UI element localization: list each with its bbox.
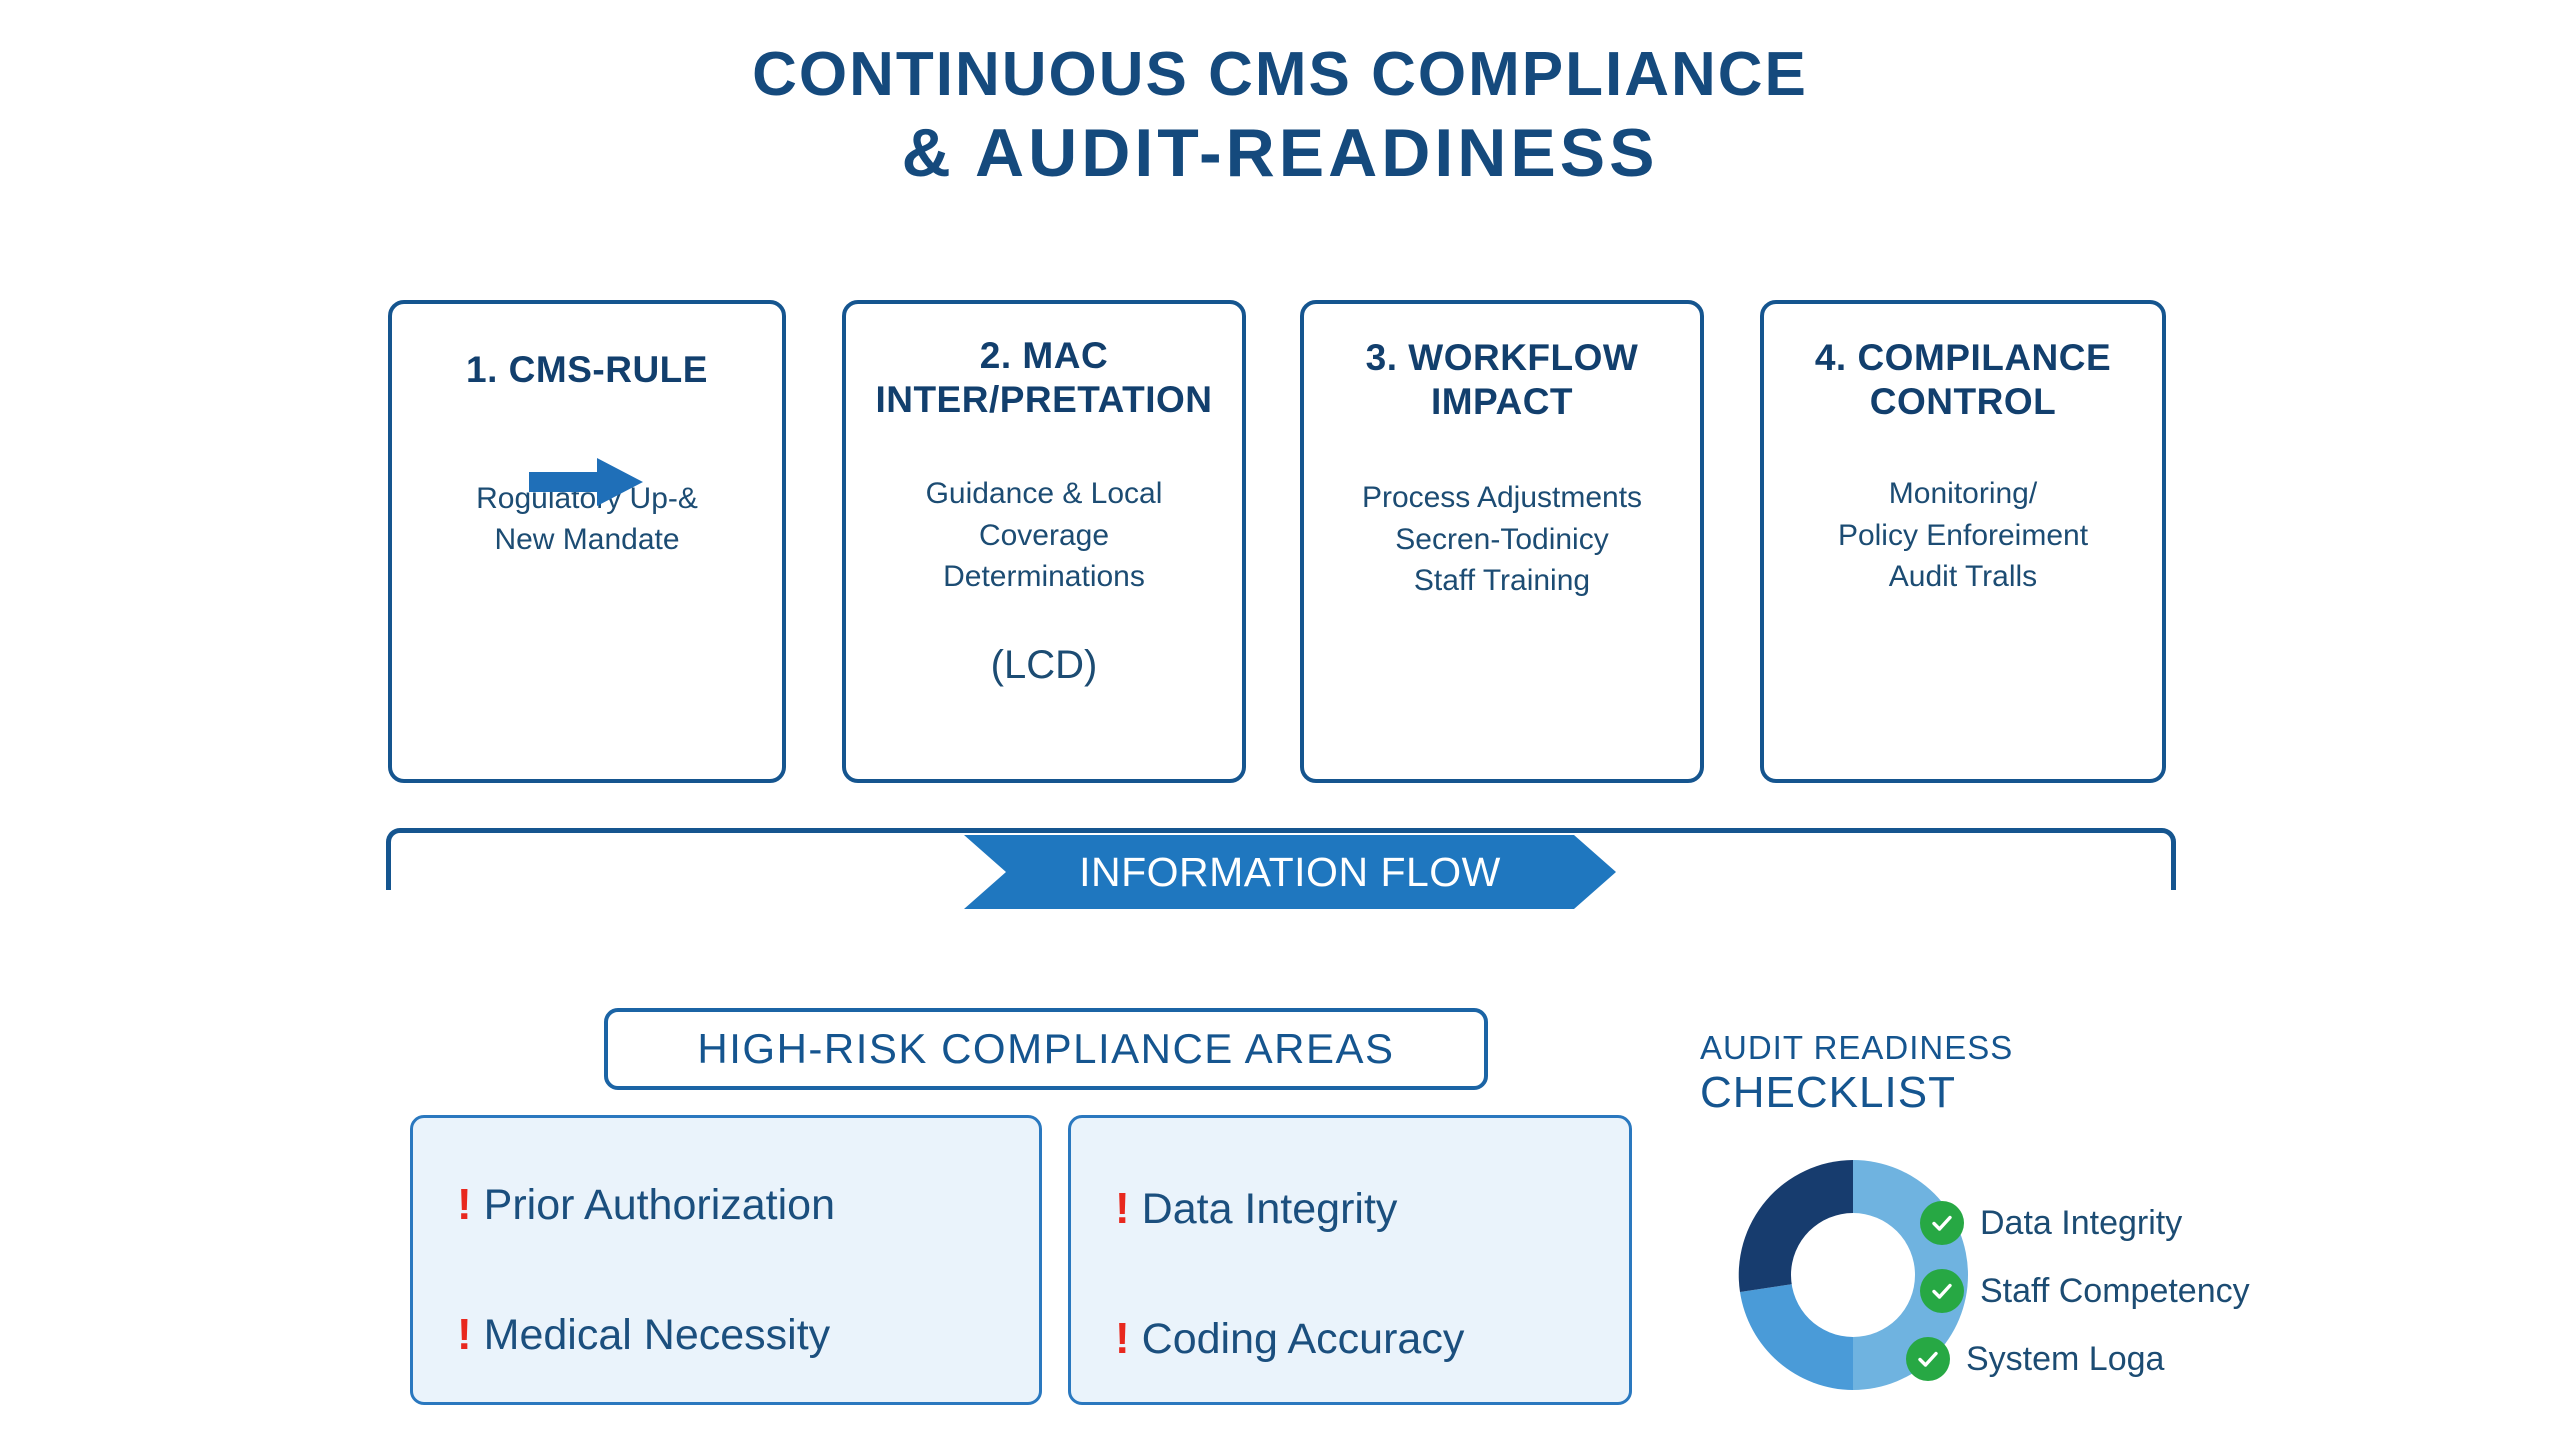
information-flow-group: INFORMATION FLOW [386,828,2176,938]
stage-body: Monitoring/ Policy Enforeiment Audit Tra… [1764,473,2162,597]
title-line-2: & AUDIT-READINESS [0,115,2560,191]
checklist-item-label: System Loga [1966,1340,2164,1379]
high-risk-panel-left: ! Prior Authorization ! Medical Necessit… [410,1115,1042,1405]
stage-heading: 4. COMPILANCE CONTROL [1764,336,2162,423]
high-risk-item[interactable]: ! Coding Accuracy [1071,1314,1629,1364]
checklist-item[interactable]: Data Integrity [1920,1190,2440,1256]
high-risk-item-label: Prior Authorization [484,1181,835,1230]
check-icon [1920,1201,1964,1245]
checklist-item[interactable]: System Loga [1906,1326,2440,1392]
high-risk-item-label: Medical Necessity [484,1311,831,1360]
high-risk-panel-right: ! Data Integrity ! Coding Accuracy [1068,1115,1632,1405]
stage-body: Guidance & Local Coverage Determinations [846,473,1242,597]
high-risk-item[interactable]: ! Data Integrity [1071,1184,1629,1234]
alert-icon: ! [457,1310,472,1360]
checklist-title: AUDIT READINESS CHECKLIST [1700,1030,2120,1118]
checklist-item-label: Data Integrity [1980,1204,2182,1243]
stage-card-row: 1. CMS-RULE Rogulatory Up-& New Mandate … [388,300,2178,790]
check-icon [1920,1269,1964,1313]
high-risk-item-label: Coding Accuracy [1142,1315,1465,1364]
title-line-1: CONTINUOUS CMS COMPLIANCE [0,42,2560,109]
stage-body: Process Adjustments Secren-Todinicy Staf… [1304,477,1700,601]
page-title: CONTINUOUS CMS COMPLIANCE & AUDIT-READIN… [0,42,2560,191]
alert-icon: ! [1115,1314,1130,1364]
stage-card-cms-rule[interactable]: 1. CMS-RULE Rogulatory Up-& New Mandate [388,300,786,783]
flow-banner: INFORMATION FLOW [964,835,1616,909]
alert-icon: ! [457,1180,472,1230]
stage-card-workflow-impact[interactable]: 3. WORKFLOW IMPACT Process Adjustments S… [1300,300,1704,783]
stage-heading: 1. CMS-RULE [392,348,782,392]
checklist-item[interactable]: Staff Competency [1920,1258,2440,1324]
checklist-items: Data Integrity Staff Competency System L… [1920,1190,2440,1394]
right-arrow-icon [392,452,782,512]
checklist-item-label: Staff Competency [1980,1272,2250,1311]
stage-heading: 3. WORKFLOW IMPACT [1304,336,1700,423]
checklist-title-line-2: CHECKLIST [1700,1068,2120,1117]
stage-extra: (LCD) [846,643,1242,688]
high-risk-item[interactable]: ! Prior Authorization [413,1180,1039,1230]
stage-card-compliance-control[interactable]: 4. COMPILANCE CONTROL Monitoring/ Policy… [1760,300,2166,783]
checklist-title-line-1: AUDIT READINESS [1700,1030,2120,1066]
high-risk-item[interactable]: ! Medical Necessity [413,1310,1039,1360]
high-risk-title: HIGH-RISK COMPLIANCE AREAS [604,1008,1488,1090]
high-risk-item-label: Data Integrity [1142,1185,1398,1234]
alert-icon: ! [1115,1184,1130,1234]
stage-card-mac-interpretation[interactable]: 2. MAC INTER/PRETATION Guidance & Local … [842,300,1246,783]
flow-label: INFORMATION FLOW [964,835,1616,909]
stage-heading: 2. MAC INTER/PRETATION [846,334,1242,421]
check-icon [1906,1337,1950,1381]
